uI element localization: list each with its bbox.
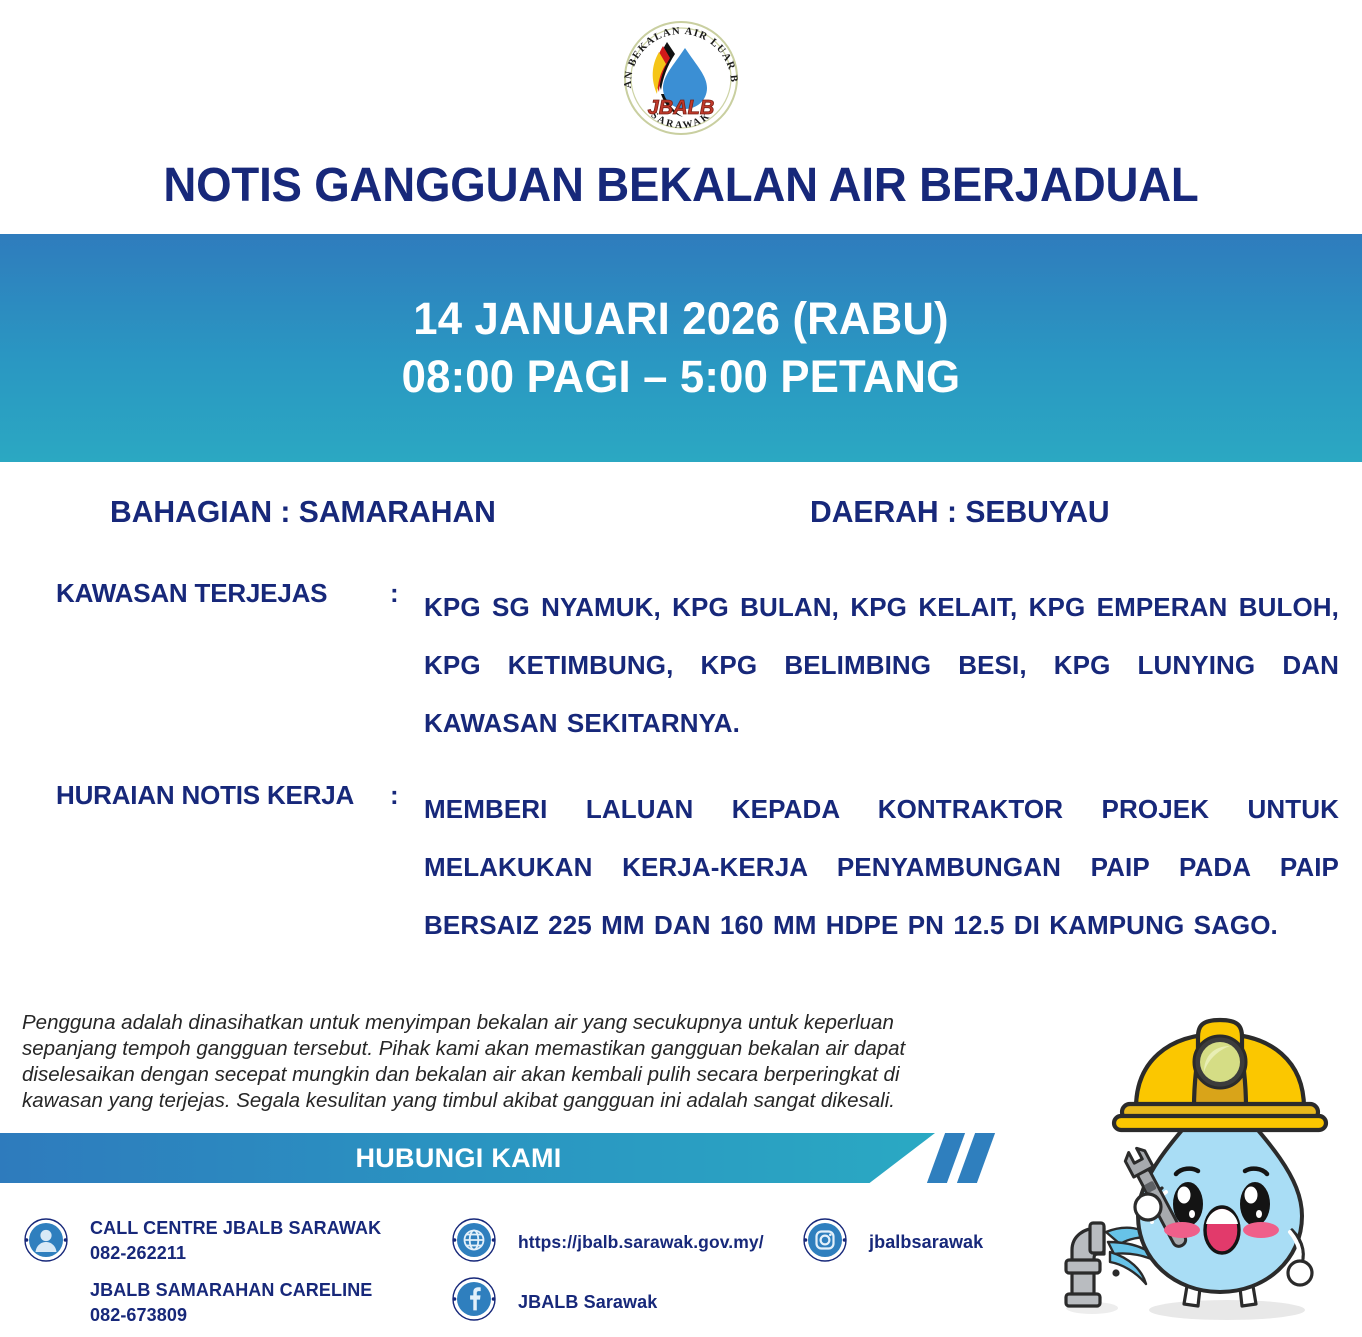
page-title: NOTIS GANGGUAN BEKALAN AIR BERJADUAL bbox=[34, 158, 1328, 213]
date-banner: 14 JANUARI 2026 (RABU) 08:00 PAGI – 5:00… bbox=[0, 234, 1362, 462]
call-centre-phone[interactable]: 082-262211 bbox=[90, 1243, 186, 1264]
field-huraian-label: HURAIAN NOTIS KERJA bbox=[56, 780, 354, 811]
person-icon bbox=[24, 1218, 68, 1262]
jbalb-logo-icon: JABATAN BEKALAN AIR LUAR BANDAR SARAWAK … bbox=[613, 14, 749, 142]
notice-poster: JABATAN BEKALAN AIR LUAR BANDAR SARAWAK … bbox=[0, 0, 1362, 1337]
field-kawasan-value: KPG SG NYAMUK, KPG BULAN, KPG KELAIT, KP… bbox=[424, 578, 1339, 752]
notice-time: 08:00 PAGI – 5:00 PETANG bbox=[402, 351, 961, 403]
svg-text:JBALB: JBALB bbox=[648, 97, 715, 119]
call-centre-name: CALL CENTRE JBALB SARAWAK bbox=[90, 1218, 381, 1239]
region-row: BAHAGIAN : SAMARAHAN DAERAH : SEBUYAU bbox=[0, 494, 1362, 534]
website-link[interactable]: https://jbalb.sarawak.gov.my/ bbox=[518, 1232, 764, 1253]
advisory-paragraph: Pengguna adalah dinasihatkan untuk menyi… bbox=[22, 1010, 972, 1114]
instagram-icon[interactable] bbox=[803, 1218, 847, 1262]
slash-decoration-2 bbox=[957, 1133, 995, 1183]
jbalb-logo: JABATAN BEKALAN AIR LUAR BANDAR SARAWAK … bbox=[613, 14, 749, 142]
daerah-label: DAERAH : SEBUYAU bbox=[810, 494, 1110, 530]
facebook-handle[interactable]: JBALB Sarawak bbox=[518, 1292, 657, 1313]
mascot-illustration bbox=[1042, 992, 1362, 1337]
careline-phone[interactable]: 082-673809 bbox=[90, 1305, 187, 1326]
contact-bar: HUBUNGI KAMI bbox=[0, 1133, 1010, 1183]
bahagian-label: BAHAGIAN : SAMARAHAN bbox=[110, 494, 496, 530]
instagram-handle: jbalbsarawak bbox=[869, 1232, 983, 1253]
field-huraian-value: MEMBERI LALUAN KEPADA KONTRAKTOR PROJEK … bbox=[424, 780, 1339, 954]
notice-date: 14 JANUARI 2026 (RABU) bbox=[413, 293, 948, 345]
facebook-icon[interactable] bbox=[452, 1277, 496, 1321]
careline-name: JBALB SAMARAHAN CARELINE bbox=[90, 1280, 372, 1301]
field-huraian-colon: : bbox=[390, 780, 399, 811]
field-kawasan-colon: : bbox=[390, 578, 399, 609]
globe-icon[interactable] bbox=[452, 1218, 496, 1262]
water-droplet-mascot-icon bbox=[1042, 992, 1362, 1337]
field-kawasan-label: KAWASAN TERJEJAS bbox=[56, 578, 327, 609]
contact-bar-title: HUBUNGI KAMI bbox=[0, 1133, 935, 1183]
